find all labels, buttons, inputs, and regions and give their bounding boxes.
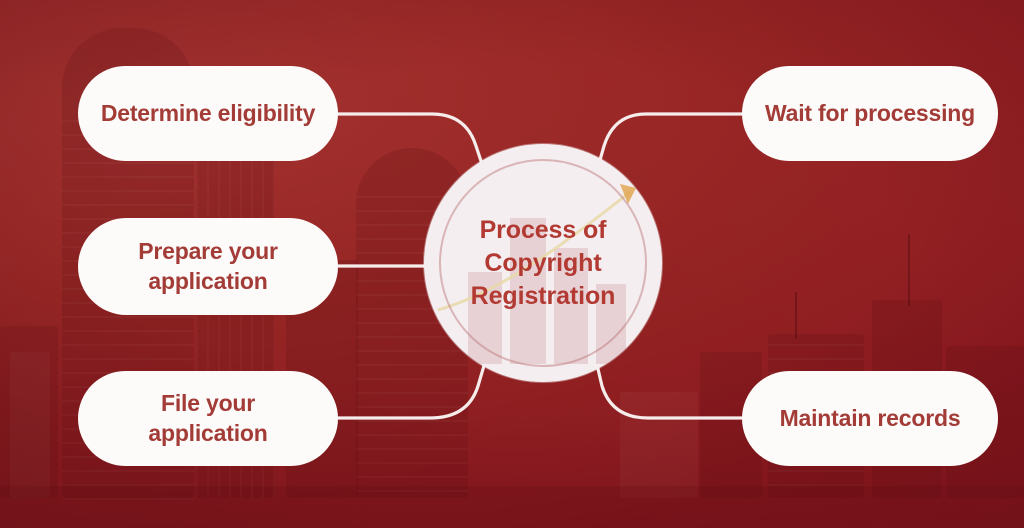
node-wait-for-processing-label: Wait for processing: [765, 99, 975, 128]
connector-maintain: [594, 352, 742, 418]
node-determine-eligibility-label: Determine eligibility: [101, 99, 315, 128]
node-determine-eligibility[interactable]: Determine eligibility: [78, 66, 338, 161]
center-title-line-1: Process of: [471, 214, 616, 247]
node-prepare-application-label: Prepare your application: [138, 237, 278, 296]
connector-wait: [596, 114, 742, 174]
center-title-line-2: Copyright: [471, 247, 616, 280]
center-node[interactable]: Process of Copyright Registration: [424, 144, 662, 382]
node-file-application-label: File your application: [100, 389, 316, 448]
node-maintain-records-label: Maintain records: [780, 404, 961, 433]
center-node-title: Process of Copyright Registration: [455, 214, 632, 313]
node-wait-for-processing[interactable]: Wait for processing: [742, 66, 998, 161]
node-prepare-line-2: application: [148, 268, 267, 294]
infographic-canvas: Process of Copyright Registration Determ…: [0, 0, 1024, 528]
node-file-application[interactable]: File your application: [78, 371, 338, 466]
connector-determine: [338, 114, 486, 176]
node-prepare-line-1: Prepare your: [138, 238, 278, 264]
connector-file: [338, 352, 488, 418]
node-maintain-records[interactable]: Maintain records: [742, 371, 998, 466]
center-title-line-3: Registration: [471, 280, 616, 313]
node-prepare-application[interactable]: Prepare your application: [78, 218, 338, 315]
